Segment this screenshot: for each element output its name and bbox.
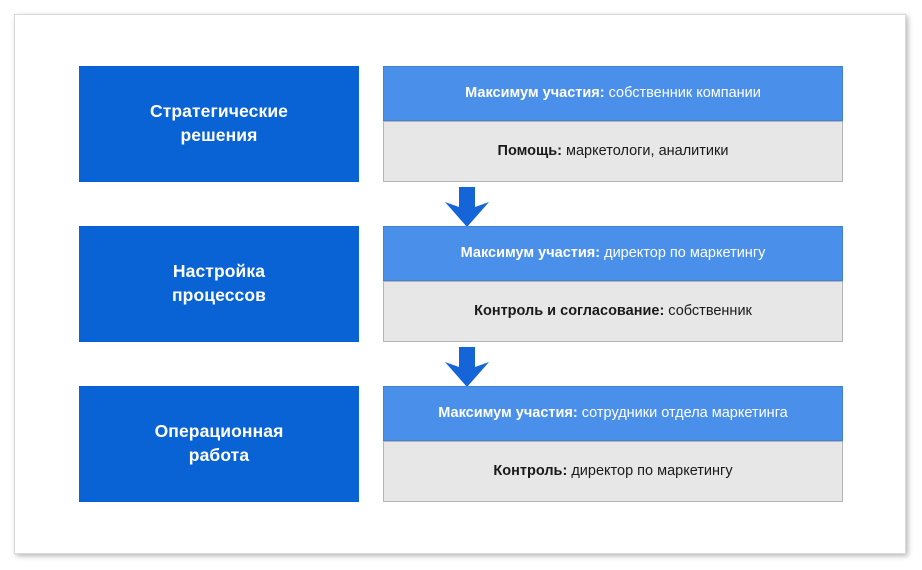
down-arrow-icon — [441, 187, 493, 227]
detail-body-key: Помощь: — [498, 143, 562, 159]
detail-body-row[interactable]: Контроль: директор по маркетингу — [383, 441, 843, 502]
detail-head-row[interactable]: Максимум участия: собственник компании — [383, 66, 843, 121]
stage-box-process-setup[interactable]: Настройка процессов — [79, 226, 359, 342]
detail-body-value: маркетологи, аналитики — [562, 143, 728, 159]
process-row: Настройка процессов Максимум участия: ди… — [79, 226, 843, 342]
detail-head-key: Максимум участия: — [438, 405, 577, 421]
stage-label: Стратегические решения — [150, 100, 288, 147]
slide-card: Стратегические решения Максимум участия:… — [14, 14, 906, 554]
stage-box-strategic[interactable]: Стратегические решения — [79, 66, 359, 182]
detail-panel: Максимум участия: собственник компании П… — [383, 66, 843, 182]
detail-body-text: Контроль: директор по маркетингу — [493, 463, 732, 480]
detail-head-text: Максимум участия: директор по маркетингу — [461, 245, 766, 262]
detail-head-value: сотрудники отдела маркетинга — [578, 405, 788, 421]
detail-body-row[interactable]: Контроль и согласование: собственник — [383, 281, 843, 342]
detail-head-row[interactable]: Максимум участия: сотрудники отдела марк… — [383, 386, 843, 441]
detail-body-key: Контроль и согласование: — [474, 303, 664, 319]
process-row: Операционная работа Максимум участия: со… — [79, 386, 843, 502]
detail-body-key: Контроль: — [493, 463, 567, 479]
detail-body-value: директор по маркетингу — [567, 463, 732, 479]
detail-head-value: директор по маркетингу — [600, 245, 765, 261]
detail-head-row[interactable]: Максимум участия: директор по маркетингу — [383, 226, 843, 281]
detail-body-text: Контроль и согласование: собственник — [474, 303, 752, 320]
detail-head-value: собственник компании — [605, 85, 761, 101]
detail-body-row[interactable]: Помощь: маркетологи, аналитики — [383, 121, 843, 182]
detail-panel: Максимум участия: сотрудники отдела марк… — [383, 386, 843, 502]
detail-head-text: Максимум участия: сотрудники отдела марк… — [438, 405, 787, 422]
down-arrow-icon — [441, 347, 493, 387]
stage-label: Настройка процессов — [172, 260, 266, 307]
process-row: Стратегические решения Максимум участия:… — [79, 66, 843, 182]
stage-label: Операционная работа — [155, 420, 284, 467]
process-flow-diagram: Стратегические решения Максимум участия:… — [15, 15, 907, 555]
detail-body-value: собственник — [664, 303, 752, 319]
stage-box-operational[interactable]: Операционная работа — [79, 386, 359, 502]
detail-head-key: Максимум участия: — [461, 245, 600, 261]
detail-body-text: Помощь: маркетологи, аналитики — [498, 143, 729, 160]
detail-head-key: Максимум участия: — [465, 85, 604, 101]
detail-head-text: Максимум участия: собственник компании — [465, 85, 761, 102]
detail-panel: Максимум участия: директор по маркетингу… — [383, 226, 843, 342]
